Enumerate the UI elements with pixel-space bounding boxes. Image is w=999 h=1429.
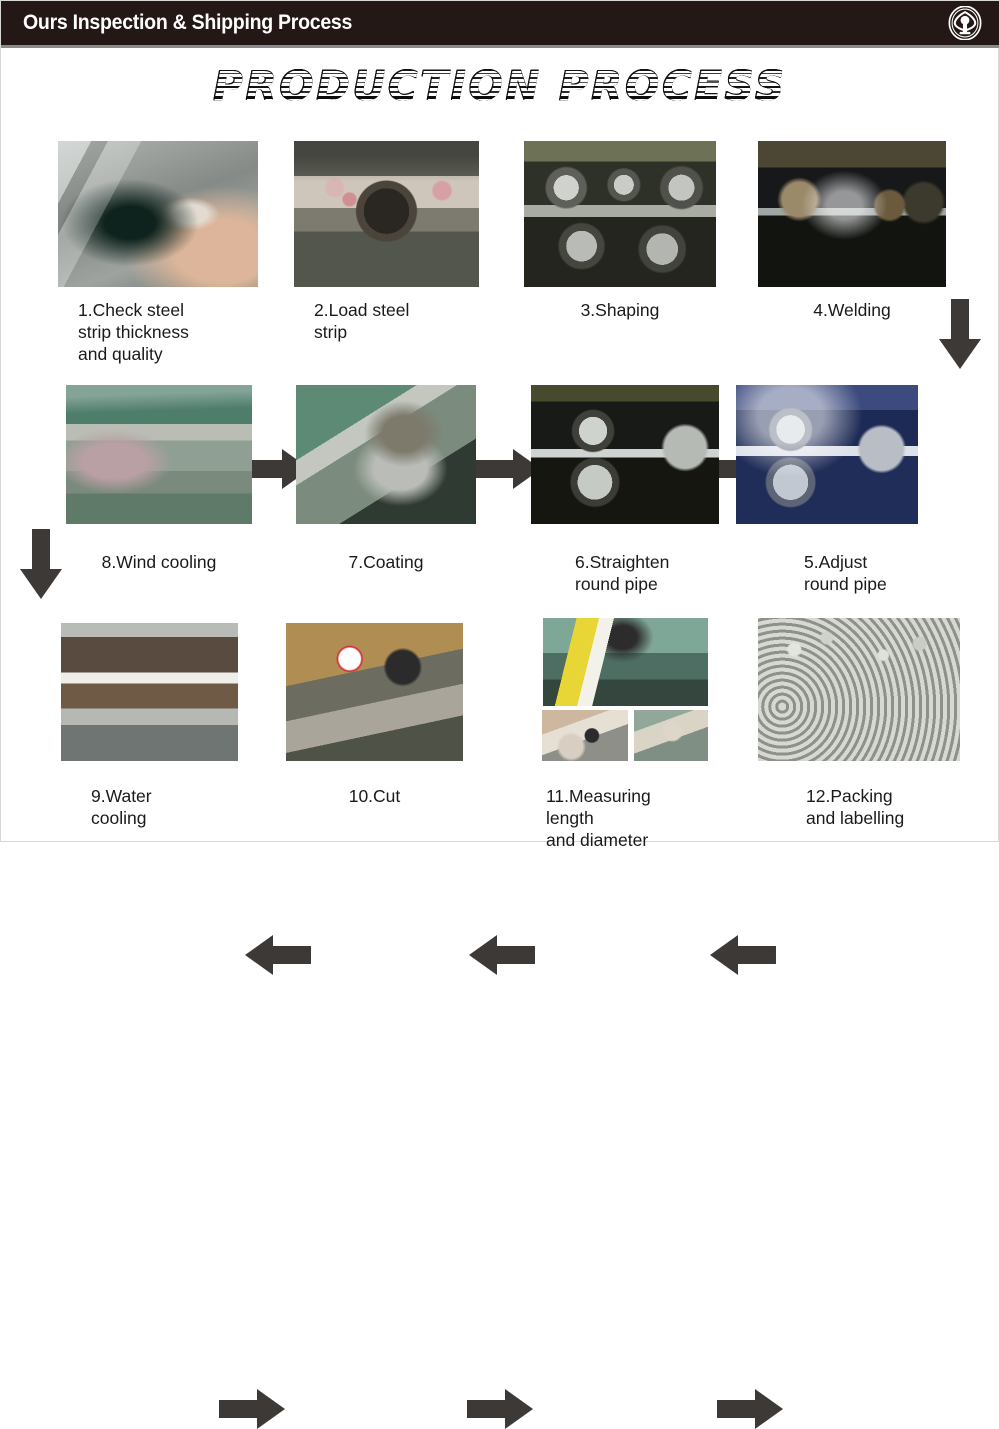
step-12-photo <box>758 618 960 761</box>
arrow-down-right-connector <box>939 299 981 369</box>
company-logo-icon <box>948 6 982 40</box>
step-2-photo <box>294 141 479 287</box>
page-header: Ours Inspection & Shipping Process <box>1 1 999 45</box>
step-10-photo <box>286 623 463 761</box>
step-11-caption: 11.Measuring length and diameter <box>546 785 736 851</box>
step-3-caption: 3.Shaping <box>524 299 716 321</box>
step-12-caption: 12.Packing and labelling <box>806 785 996 829</box>
step-9-caption: 9.Water cooling <box>91 785 261 829</box>
step-11-photo-detail-left <box>542 710 628 761</box>
arrow-down-left-connector <box>20 529 62 599</box>
step-3-photo <box>524 141 716 287</box>
step-5-caption: 5.Adjust round pipe <box>804 551 984 595</box>
step-7-photo <box>296 385 476 524</box>
arrow-step-11-to-12 <box>717 1389 783 1429</box>
step-6-photo <box>531 385 719 524</box>
step-2-caption: 2.Load steel strip <box>314 299 489 343</box>
arrow-step-9-to-10 <box>219 1389 285 1429</box>
step-4-photo <box>758 141 946 287</box>
arrow-step-5-to-6 <box>710 935 776 975</box>
step-9-photo <box>61 623 238 761</box>
process-row-3: 9.Water cooling 10.Cut 11.Measuring leng… <box>1 607 999 843</box>
arrow-step-10-to-11 <box>467 1389 533 1429</box>
step-8-caption: 8.Wind cooling <box>59 551 259 573</box>
step-7-caption: 7.Coating <box>296 551 476 573</box>
production-process-title-wrap: PRODUCTION PROCESS <box>1 63 999 111</box>
page-header-title: Ours Inspection & Shipping Process <box>23 11 352 35</box>
step-1-caption: 1.Check steel strip thickness and qualit… <box>78 299 268 365</box>
step-1-photo <box>58 141 258 287</box>
production-process-title: PRODUCTION PROCESS <box>214 67 788 107</box>
step-4-caption: 4.Welding <box>758 299 946 321</box>
arrow-step-7-to-8 <box>245 935 311 975</box>
step-8-photo <box>66 385 252 524</box>
step-11-photo-detail-right <box>634 710 708 761</box>
step-5-photo <box>736 385 918 524</box>
process-row-2: 8.Wind cooling 7.Coating 6.Straighten ro… <box>1 383 999 598</box>
step-6-caption: 6.Straighten round pipe <box>575 551 755 595</box>
step-10-caption: 10.Cut <box>286 785 463 807</box>
process-row-1: 1.Check steel strip thickness and qualit… <box>1 139 999 374</box>
header-divider <box>1 45 999 48</box>
step-11-photo-main <box>543 618 708 706</box>
arrow-step-6-to-7 <box>469 935 535 975</box>
